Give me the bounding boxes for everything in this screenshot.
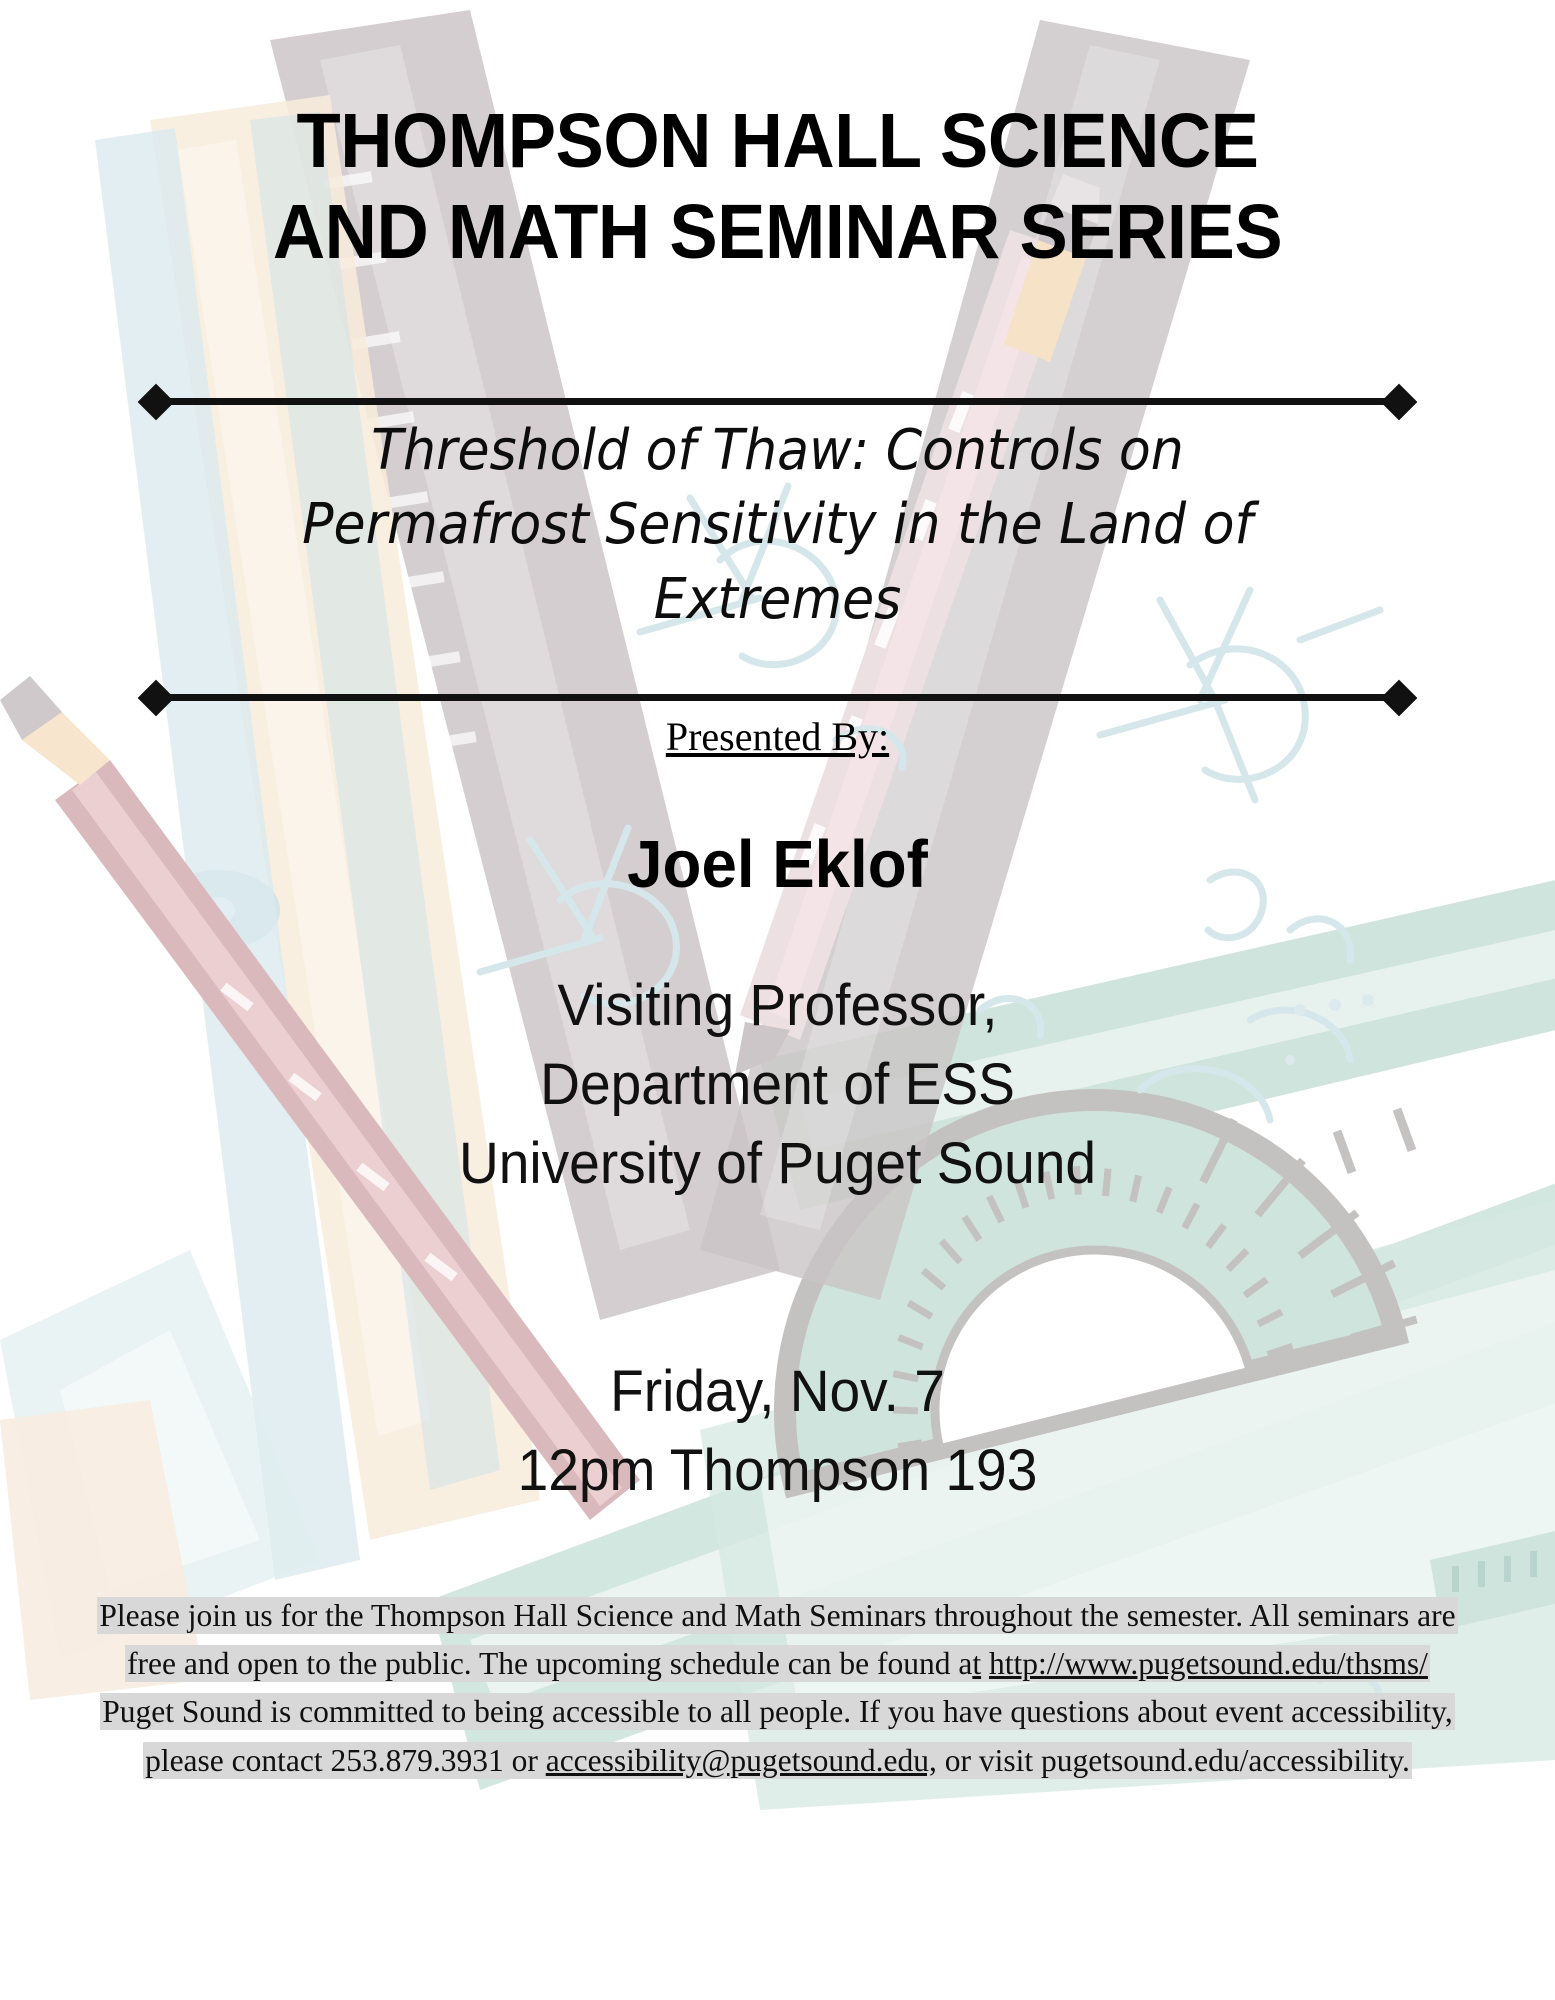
- presented-by-label: Presented By:: [0, 713, 1555, 760]
- divider-bottom: [160, 694, 1395, 701]
- subtitle-line-1: Threshold of Thaw: Controls on: [157, 414, 1399, 488]
- event-details: Friday, Nov. 7 12pm Thompson 193: [39, 1353, 1516, 1511]
- presented-by-text: Presented By:: [666, 714, 889, 759]
- affiliation-line-1: Visiting Professor,: [39, 967, 1516, 1046]
- subtitle-line-2: Permafrost Sensitivity in the Land of: [157, 488, 1399, 562]
- title-line-2: AND MATH SEMINAR SERIES: [94, 187, 1462, 278]
- affiliation-line-2: Department of ESS: [39, 1046, 1516, 1125]
- talk-subtitle: Threshold of Thaw: Controls on Permafros…: [157, 414, 1399, 637]
- footer-underlined-t: t: [972, 1646, 981, 1681]
- speaker-name: Joel Eklof: [39, 826, 1516, 903]
- accessibility-phone: 253.879.3931: [330, 1743, 503, 1778]
- speaker-affiliation: Visiting Professor, Department of ESS Un…: [39, 967, 1516, 1204]
- accessibility-email-link[interactable]: accessibility@pugetsound.edu,: [546, 1743, 937, 1778]
- title-line-1: THOMPSON HALL SCIENCE: [94, 96, 1462, 187]
- seminar-schedule-link[interactable]: http://www.pugetsound.edu/thsms/: [989, 1646, 1428, 1681]
- divider-top: [160, 398, 1395, 405]
- footer-text-part3: or: [504, 1743, 546, 1778]
- footer-notice: Please join us for the Thompson Hall Sci…: [95, 1592, 1460, 1785]
- page-title: THOMPSON HALL SCIENCE AND MATH SEMINAR S…: [94, 96, 1462, 278]
- seminar-poster: THOMPSON HALL SCIENCE AND MATH SEMINAR S…: [0, 0, 1555, 2000]
- footer-text-part4: or visit pugetsound.edu/accessibility.: [937, 1743, 1410, 1778]
- subtitle-line-3: Extremes: [157, 563, 1399, 637]
- affiliation-line-3: University of Puget Sound: [39, 1125, 1516, 1204]
- event-time-location: 12pm Thompson 193: [39, 1432, 1516, 1511]
- event-date: Friday, Nov. 7: [39, 1353, 1516, 1432]
